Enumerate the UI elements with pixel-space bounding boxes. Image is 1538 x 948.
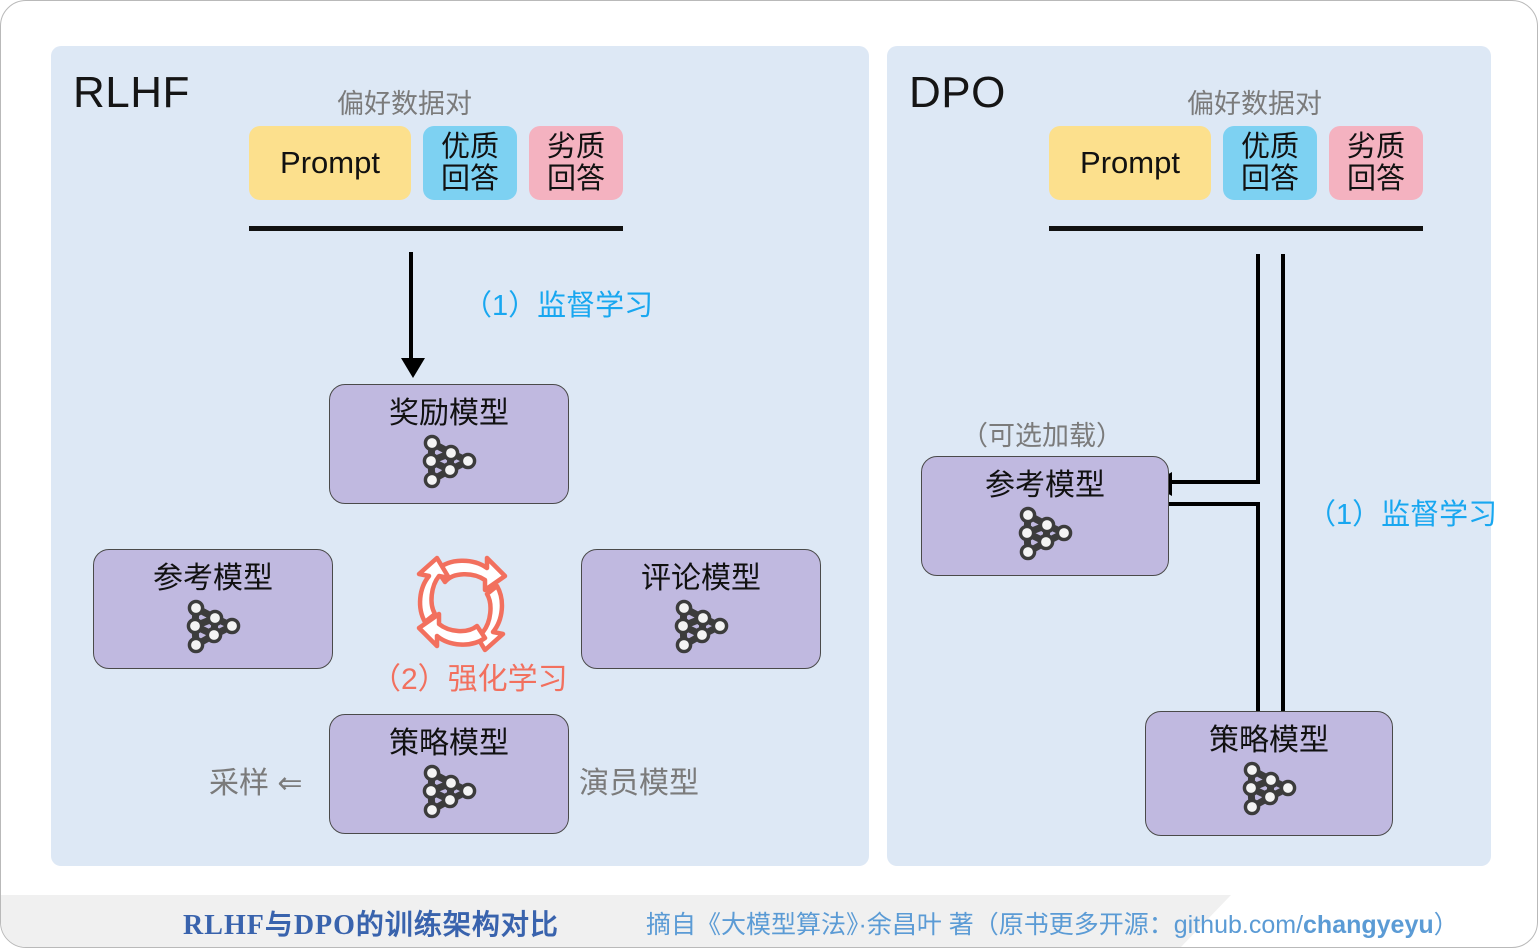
diagram-canvas: RLHF 偏好数据对 Prompt 优质 回答 劣质 回答 （1）监督学习 奖励… (0, 0, 1538, 948)
panel-rlhf: RLHF 偏好数据对 Prompt 优质 回答 劣质 回答 （1）监督学习 奖励… (51, 46, 869, 866)
footer: RLHF与DPO的训练架构对比 摘自《大模型算法》·余昌叶 著（原书更多开源：g… (1, 895, 1538, 947)
preference-data-label-dpo: 偏好数据对 (1187, 82, 1322, 121)
preference-underline-rlhf (249, 226, 623, 231)
model-card-reference-label: 参考模型 (153, 564, 273, 594)
neural-network-icon (671, 598, 731, 659)
chip-good-answer-rlhf: 优质 回答 (423, 126, 517, 200)
model-card-policy-rlhf: 策略模型 (329, 714, 569, 834)
footer-credit-prefix: 摘自《大模型算法》·余昌叶 著（原书更多开源：github.com/ (646, 911, 1303, 939)
chip-prompt-rlhf: Prompt (249, 126, 411, 200)
neural-network-icon (1239, 760, 1299, 821)
model-card-policy-label: 策略模型 (1209, 726, 1329, 756)
panel-title-dpo: DPO (909, 68, 1006, 118)
reinforcement-cycle-icon (401, 546, 521, 663)
step-label-supervised-dpo: （1）监督学习 (1307, 491, 1497, 533)
chip-bad-answer-rlhf: 劣质 回答 (529, 126, 623, 200)
neural-network-icon (419, 763, 479, 824)
model-card-critic-label: 评论模型 (641, 564, 761, 594)
neural-network-icon (1015, 505, 1075, 566)
sampling-note: 采样 ⇐ (209, 758, 302, 802)
footer-credit: 摘自《大模型算法》·余昌叶 著（原书更多开源：github.com/changy… (646, 905, 1459, 941)
connector-ref-inbound-line (1171, 480, 1260, 484)
model-card-policy-dpo: 策略模型 (1145, 711, 1393, 836)
model-card-reward: 奖励模型 (329, 384, 569, 504)
neural-network-icon (183, 598, 243, 659)
model-card-reward-label: 奖励模型 (389, 399, 509, 429)
chip-good-answer-label: 优质 回答 (1241, 131, 1299, 196)
footer-credit-suffix: ） (1434, 911, 1459, 939)
chip-good-answer-label: 优质 回答 (441, 131, 499, 196)
chip-prompt-dpo: Prompt (1049, 126, 1211, 200)
connector-direct-line (1281, 254, 1285, 718)
neural-network-icon (419, 433, 479, 494)
connector-ref-branch-bottom (1256, 502, 1260, 718)
panel-title-rlhf: RLHF (73, 68, 190, 118)
step-label-reinforcement-rlhf: （2）强化学习 (371, 654, 568, 698)
footer-title: RLHF与DPO的训练架构对比 (161, 903, 581, 943)
panel-dpo: DPO 偏好数据对 Prompt 优质 回答 劣质 回答 （1）监督学习 （可选… (887, 46, 1491, 866)
chip-prompt-label: Prompt (280, 146, 380, 181)
preference-underline-dpo (1049, 226, 1423, 231)
connector-sft-line-rlhf (409, 252, 413, 362)
chip-bad-answer-dpo: 劣质 回答 (1329, 126, 1423, 200)
model-card-critic: 评论模型 (581, 549, 821, 669)
chip-bad-answer-label: 劣质 回答 (1347, 131, 1405, 196)
actor-model-note: 演员模型 (579, 758, 699, 802)
preference-data-label-rlhf: 偏好数据对 (337, 82, 472, 121)
chip-good-answer-dpo: 优质 回答 (1223, 126, 1317, 200)
connector-ref-outbound-line (1163, 502, 1260, 506)
connector-ref-branch-top (1256, 254, 1260, 482)
model-card-policy-label: 策略模型 (389, 729, 509, 759)
connector-sft-arrowhead-rlhf (401, 358, 425, 378)
model-card-reference-label: 参考模型 (985, 471, 1105, 501)
model-card-reference-dpo: 参考模型 (921, 456, 1169, 576)
chip-bad-answer-label: 劣质 回答 (547, 131, 605, 196)
chip-prompt-label: Prompt (1080, 146, 1180, 181)
footer-credit-handle: changyeyu (1303, 911, 1434, 939)
step-label-supervised-rlhf: （1）监督学习 (463, 282, 653, 324)
model-card-reference-rlhf: 参考模型 (93, 549, 333, 669)
optional-load-note: （可选加载） (961, 414, 1123, 453)
